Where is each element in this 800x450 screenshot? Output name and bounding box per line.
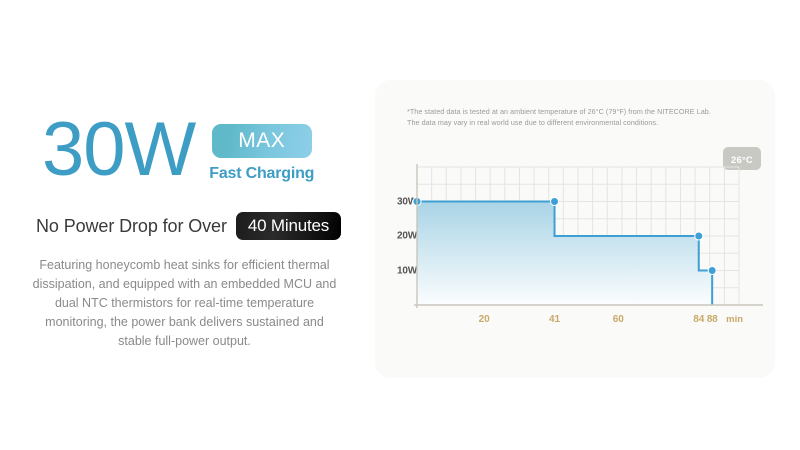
chart-card: *The stated data is tested at an ambient… <box>375 80 775 378</box>
headline-row: 30W MAX Fast Charging <box>42 112 314 188</box>
x-tick-label: 88 <box>707 314 718 325</box>
subhead-text: No Power Drop for Over <box>36 216 227 237</box>
x-axis-labels: 20 41 60 84 88 min <box>383 311 767 333</box>
x-tick-label: 84 <box>693 314 704 325</box>
disclaimer-line-1: *The stated data is tested at an ambient… <box>407 107 747 118</box>
x-tick-label: 20 <box>479 314 490 325</box>
max-block: MAX Fast Charging <box>209 124 314 183</box>
left-marketing-panel: 30W MAX Fast Charging No Power Drop for … <box>0 0 370 450</box>
power-output-chart: 10W 20W 30W 20 41 60 84 88 min <box>383 163 767 343</box>
x-tick-label: 60 <box>613 314 624 325</box>
minutes-badge-label: 40 Minutes <box>248 216 329 236</box>
max-badge-label: MAX <box>238 129 285 153</box>
x-axis-unit-label: min <box>726 314 743 325</box>
x-tick-label: 41 <box>549 314 560 325</box>
wattage-headline: 30W <box>42 112 195 188</box>
body-paragraph: Featuring honeycomb heat sinks for effic… <box>32 256 337 351</box>
disclaimer-text: *The stated data is tested at an ambient… <box>407 107 747 128</box>
max-badge: MAX <box>212 124 312 158</box>
subhead-row: No Power Drop for Over 40 Minutes <box>36 212 341 240</box>
minutes-badge: 40 Minutes <box>236 212 341 240</box>
chart-plot-area <box>383 163 767 313</box>
fast-charging-label: Fast Charging <box>209 165 314 183</box>
promo-page: 30W MAX Fast Charging No Power Drop for … <box>0 0 800 450</box>
disclaimer-line-2: The data may vary in real world use due … <box>407 118 747 129</box>
